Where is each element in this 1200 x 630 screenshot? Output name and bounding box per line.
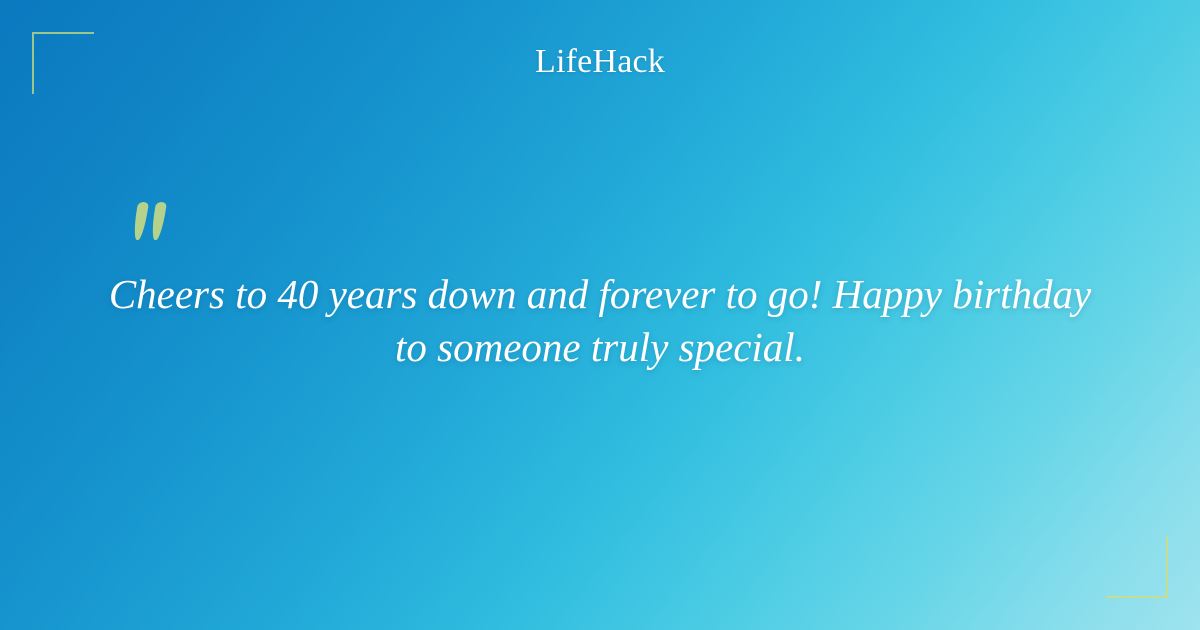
quote-stroke-left	[132, 202, 149, 240]
corner-bracket-bottom-right-icon	[1106, 536, 1168, 598]
double-quote-icon	[133, 202, 177, 246]
quote-text: Cheers to 40 years down and forever to g…	[90, 268, 1110, 374]
quote-stroke-right	[150, 202, 167, 240]
quote-card: LifeHack Cheers to 40 years down and for…	[0, 0, 1200, 630]
brand-logo: LifeHack	[0, 40, 1200, 84]
